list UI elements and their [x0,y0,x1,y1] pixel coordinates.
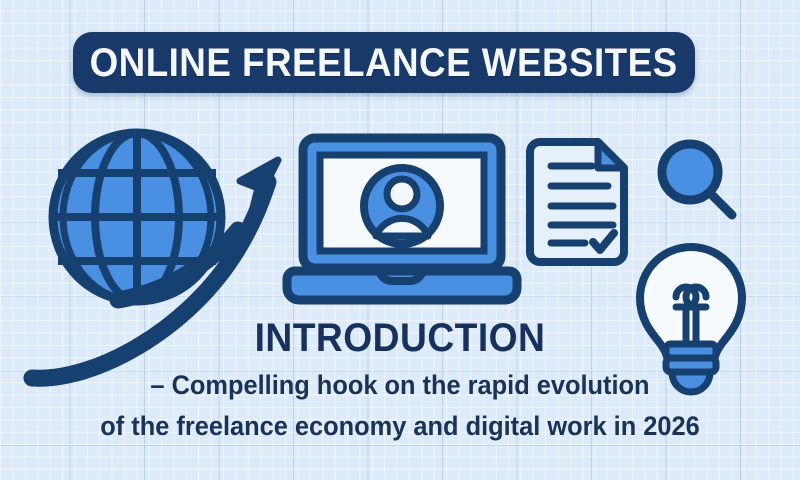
body-line-1: – Compelling hook on the rapid evolution [24,372,776,399]
page-title: ONLINE FREELANCE WEBSITES [90,43,678,83]
section-heading: INTRODUCTION [28,318,772,358]
title-badge: ONLINE FREELANCE WEBSITES [73,32,695,93]
body-line-2: of the freelance economy and digital wor… [24,413,776,440]
slide-canvas: ONLINE FREELANCE WEBSITES INTRODUCTION –… [0,0,800,480]
